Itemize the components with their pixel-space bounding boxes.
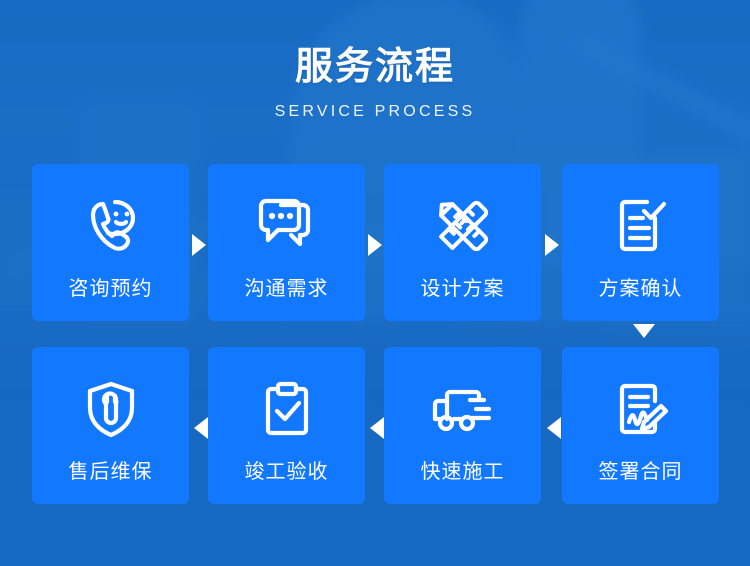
process-step-design[interactable]: 设计方案 xyxy=(384,164,541,321)
process-step-label: 竣工验收 xyxy=(245,459,329,485)
document-check-icon xyxy=(605,192,677,262)
page-title: 服务流程 xyxy=(0,44,750,90)
process-grid: 咨询预约 沟通需求 xyxy=(32,164,718,530)
process-step-label: 方案确认 xyxy=(599,276,683,302)
process-row-2: 售后维保 竣工验收 xyxy=(32,347,718,504)
clipboard-check-icon xyxy=(251,375,323,445)
service-process-banner: 服务流程 SERVICE PROCESS 咨询预约 xyxy=(0,0,750,566)
arrow-right-icon xyxy=(368,234,382,256)
process-step-label: 售后维保 xyxy=(69,459,153,485)
chat-bubbles-icon xyxy=(251,192,323,262)
contract-pen-icon xyxy=(605,375,677,445)
process-step-contract[interactable]: 签署合同 xyxy=(562,347,719,504)
shield-wrench-icon xyxy=(75,375,147,445)
arrow-right-icon xyxy=(192,234,206,256)
process-step-construction[interactable]: 快速施工 xyxy=(384,347,541,504)
process-step-label: 设计方案 xyxy=(421,276,505,302)
process-step-label: 签署合同 xyxy=(599,459,683,485)
process-step-label: 咨询预约 xyxy=(69,276,153,302)
phone-smiley-icon xyxy=(75,192,147,262)
page-subtitle: SERVICE PROCESS xyxy=(0,100,750,124)
process-step-acceptance[interactable]: 竣工验收 xyxy=(208,347,365,504)
arrow-right-icon xyxy=(545,234,559,256)
process-step-consultation[interactable]: 咨询预约 xyxy=(32,164,189,321)
delivery-truck-icon xyxy=(427,375,499,445)
process-step-requirements[interactable]: 沟通需求 xyxy=(208,164,365,321)
arrow-left-icon xyxy=(370,417,384,439)
arrow-down-icon xyxy=(633,324,655,338)
arrow-left-icon xyxy=(547,417,561,439)
process-step-label: 快速施工 xyxy=(421,459,505,485)
process-step-label: 沟通需求 xyxy=(245,276,329,302)
process-row-1: 咨询预约 沟通需求 xyxy=(32,164,718,321)
pencil-ruler-icon xyxy=(427,192,499,262)
process-step-after-sales[interactable]: 售后维保 xyxy=(32,347,189,504)
arrow-left-icon xyxy=(194,417,208,439)
header: 服务流程 SERVICE PROCESS xyxy=(0,44,750,124)
process-step-plan-confirm[interactable]: 方案确认 xyxy=(562,164,719,321)
